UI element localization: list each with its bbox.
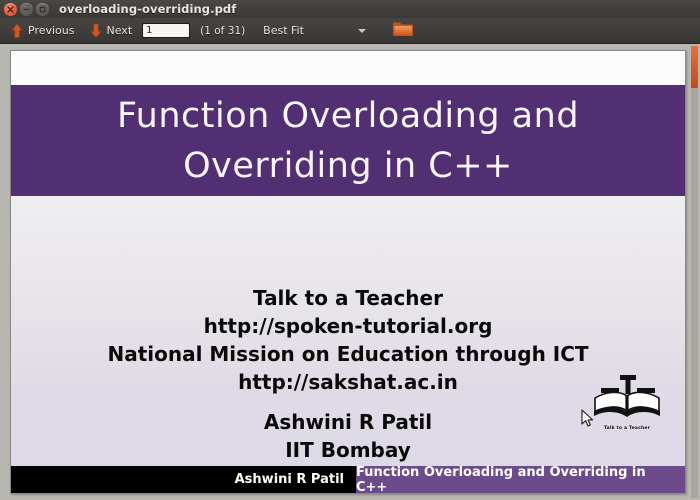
pdf-page: Function Overloading and Overriding in C… <box>10 50 686 494</box>
page-top-strip <box>11 51 685 85</box>
logo-caption: Talk to a Teacher <box>589 426 665 431</box>
page-number-input[interactable] <box>142 23 190 38</box>
slide-title-line-1: Function Overloading and <box>117 91 579 141</box>
talk-to-a-teacher-logo-icon: Talk to a Teacher <box>589 374 665 432</box>
vertical-scrollbar-track[interactable] <box>691 46 698 498</box>
footer-author: Ashwini R Patil <box>235 472 344 487</box>
document-view[interactable]: Function Overloading and Overriding in C… <box>0 44 700 500</box>
previous-button[interactable]: Previous <box>6 20 79 42</box>
pdf-viewer-window: overloading-overriding.pdf Previous Next… <box>0 0 700 500</box>
footer-title: Function Overloading and Overriding in C… <box>356 465 679 495</box>
zoom-level-label[interactable]: Best Fit <box>263 24 304 37</box>
folder-icon[interactable] <box>392 20 414 42</box>
footer-title-section: Function Overloading and Overriding in C… <box>356 466 685 493</box>
footer-author-section: Ashwini R Patil <box>11 466 356 493</box>
minimize-icon[interactable] <box>20 3 33 16</box>
next-label: Next <box>107 24 133 37</box>
org-line-4: http://sakshat.ac.in <box>11 368 685 396</box>
org-line-2: http://spoken-tutorial.org <box>11 312 685 340</box>
slide-body: Talk to a Teacher http://spoken-tutorial… <box>11 196 685 466</box>
author-affiliation: IIT Bombay <box>11 436 685 464</box>
toolbar: Previous Next (1 of 31) Best Fit <box>0 18 700 44</box>
slide-title-line-2: Overriding in C++ <box>183 141 513 191</box>
arrow-down-icon <box>89 23 103 39</box>
slide-footer: Ashwini R Patil Function Overloading and… <box>11 466 685 493</box>
next-button[interactable]: Next <box>85 20 137 42</box>
org-line-1: Talk to a Teacher <box>11 284 685 312</box>
title-bar: overloading-overriding.pdf <box>0 0 700 19</box>
vertical-scrollbar-thumb[interactable] <box>691 46 698 88</box>
arrow-up-icon <box>10 23 24 39</box>
author-name: Ashwini R Patil <box>11 408 685 436</box>
slide-org-block: Talk to a Teacher http://spoken-tutorial… <box>11 284 685 396</box>
close-icon[interactable] <box>4 3 17 16</box>
slide-title-banner: Function Overloading and Overriding in C… <box>11 85 685 196</box>
window-title: overloading-overriding.pdf <box>59 2 236 16</box>
org-line-3: National Mission on Education through IC… <box>11 340 685 368</box>
page-count-label: (1 of 31) <box>200 25 245 37</box>
maximize-icon[interactable] <box>36 3 49 16</box>
slide-author-block: Ashwini R Patil IIT Bombay <box>11 408 685 464</box>
window-controls <box>4 3 49 16</box>
chevron-down-icon[interactable] <box>358 29 366 33</box>
previous-label: Previous <box>28 24 75 37</box>
